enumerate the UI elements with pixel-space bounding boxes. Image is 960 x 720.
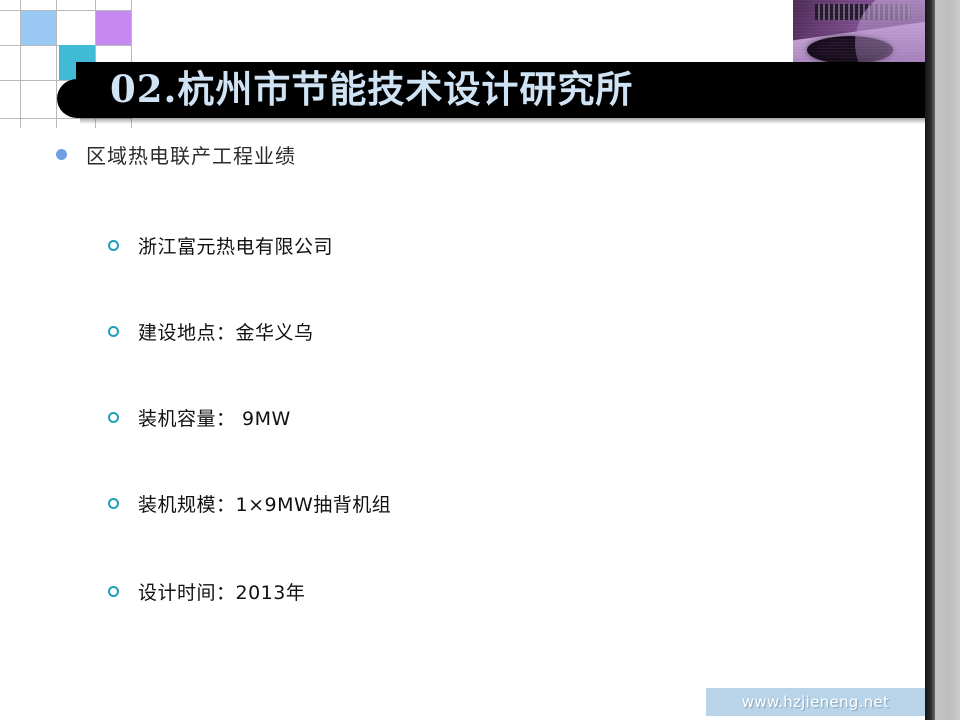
decor-square-light-blue <box>21 11 56 45</box>
footer-watermark-url: www.hzjieneng.net <box>706 688 925 716</box>
list-item-label: 设计时间：2013年 <box>138 578 305 605</box>
list-item: 建设地点：金华义乌 <box>108 318 314 345</box>
content-heading-label: 区域热电联产工程业绩 <box>86 140 296 169</box>
list-item-label: 浙江富元热电有限公司 <box>138 232 333 259</box>
title-bar-shadow <box>80 118 940 124</box>
list-item: 设计时间：2013年 <box>108 578 305 605</box>
list-item-label: 装机规模：1×9MW抽背机组 <box>138 490 391 517</box>
page-title: 02.杭州市节能技术设计研究所 <box>110 63 633 117</box>
bullet-ring-icon <box>108 240 119 251</box>
slide-canvas: 02.杭州市节能技术设计研究所 区域热电联产工程业绩 浙江富元热电有限公司 建设… <box>0 0 960 720</box>
list-item: 浙江富元热电有限公司 <box>108 232 333 259</box>
decor-square-purple <box>96 11 131 45</box>
list-item: 装机规模：1×9MW抽背机组 <box>108 490 391 517</box>
decor-circle-black <box>57 79 97 118</box>
bullet-ring-icon <box>108 586 119 597</box>
right-edge-border <box>925 0 935 720</box>
bullet-dot-icon <box>56 149 67 160</box>
bullet-ring-icon <box>108 326 119 337</box>
bullet-ring-icon <box>108 412 119 423</box>
content-heading: 区域热电联产工程业绩 <box>56 140 296 169</box>
right-gutter <box>935 0 960 720</box>
bullet-ring-icon <box>108 498 119 509</box>
list-item-label: 装机容量： 9MW <box>138 404 291 431</box>
list-item-label: 建设地点：金华义乌 <box>138 318 314 345</box>
list-item: 装机容量： 9MW <box>108 404 291 431</box>
grid-line-vertical <box>56 0 57 128</box>
